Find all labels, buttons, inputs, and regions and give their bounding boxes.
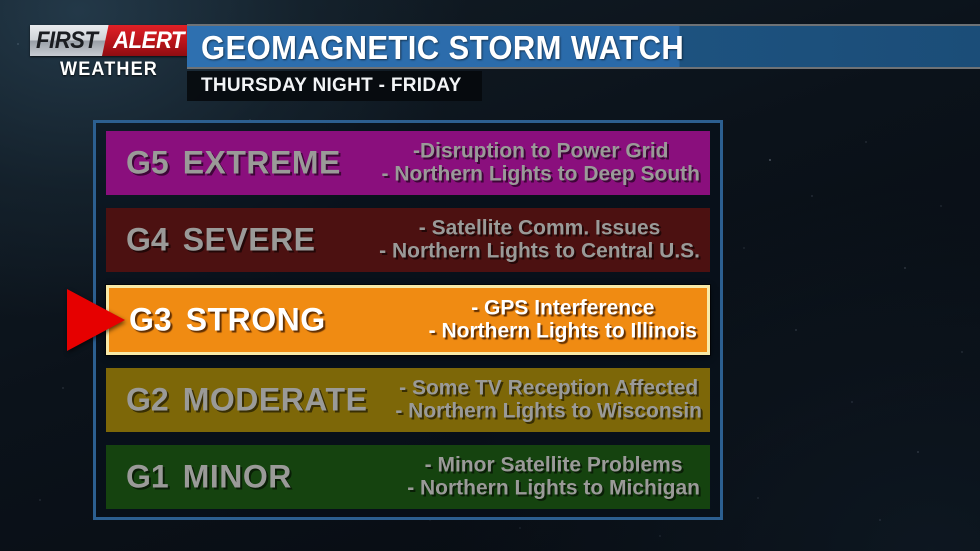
storm-row-g1-label: G1 MINOR [126, 459, 292, 496]
storm-row-g5-label: G5 EXTREME [126, 145, 341, 182]
storm-row-g1-level: G1 [126, 459, 169, 496]
page-title: GEOMAGNETIC STORM WATCH [201, 29, 684, 67]
storm-row-g2-desc-line2: - Northern Lights to Wisconsin [395, 400, 702, 423]
subtitle-timeframe: THURSDAY NIGHT - FRIDAY [201, 75, 462, 97]
storm-row-g3-desc-line2: - Northern Lights to Illinois [429, 320, 697, 343]
logo-alert-badge: ALERT [102, 25, 188, 56]
storm-row-g3-level: G3 [129, 302, 172, 339]
headline-bar: GEOMAGNETIC STORM WATCH [187, 24, 980, 69]
storm-row-g4-label: G4 SEVERE [126, 222, 316, 259]
weather-graphic-screen: FIRST ALERT WEATHER GEOMAGNETIC STORM WA… [0, 0, 980, 551]
logo-bar: FIRST ALERT [30, 25, 188, 56]
storm-row-g4: G4 SEVERE - Satellite Comm. Issues - Nor… [106, 208, 710, 272]
storm-row-g4-description: - Satellite Comm. Issues - Northern Ligh… [379, 217, 700, 262]
storm-row-g4-level: G4 [126, 222, 169, 259]
storm-row-g5-level: G5 [126, 145, 169, 182]
storm-row-g3-label: G3 STRONG [129, 302, 326, 339]
logo-weather-text: WEATHER [34, 59, 184, 81]
storm-row-g2-description: - Some TV Reception Affected - Northern … [395, 377, 702, 422]
storm-row-g3: G3 STRONG - GPS Interference - Northern … [106, 285, 710, 355]
storm-row-g3-description: - GPS Interference - Northern Lights to … [429, 297, 697, 342]
storm-row-g1-desc-line2: - Northern Lights to Michigan [407, 477, 700, 500]
storm-row-g1-desc-line1: - Minor Satellite Problems [407, 454, 700, 477]
storm-row-g2-desc-line1: - Some TV Reception Affected [395, 377, 702, 400]
storm-row-g2: G2 MODERATE - Some TV Reception Affected… [106, 368, 710, 432]
logo-first-text: FIRST [36, 27, 97, 55]
subtitle-bar: THURSDAY NIGHT - FRIDAY [187, 71, 482, 101]
storm-row-g1: G1 MINOR - Minor Satellite Problems - No… [106, 445, 710, 509]
storm-row-g2-level: G2 [126, 382, 169, 419]
storm-row-g5-name: EXTREME [183, 145, 341, 182]
storm-row-g3-name: STRONG [186, 302, 326, 339]
storm-row-g2-name: MODERATE [183, 382, 368, 419]
storm-row-g1-name: MINOR [183, 459, 292, 496]
storm-row-g3-desc-line1: - GPS Interference [429, 297, 697, 320]
storm-row-g4-desc-line1: - Satellite Comm. Issues [379, 217, 700, 240]
storm-scale-rows: G5 EXTREME -Disruption to Power Grid - N… [106, 131, 710, 509]
storm-row-g5-desc-line2: - Northern Lights to Deep South [382, 163, 700, 186]
storm-row-g4-name: SEVERE [183, 222, 316, 259]
storm-row-g1-description: - Minor Satellite Problems - Northern Li… [407, 454, 700, 499]
red-arrow-indicator-icon [67, 289, 125, 351]
storm-row-g2-label: G2 MODERATE [126, 382, 367, 419]
storm-row-g5-desc-line1: -Disruption to Power Grid [382, 140, 700, 163]
first-alert-weather-logo: FIRST ALERT WEATHER [30, 25, 190, 83]
storm-row-g5: G5 EXTREME -Disruption to Power Grid - N… [106, 131, 710, 195]
storm-row-g4-desc-line2: - Northern Lights to Central U.S. [379, 240, 700, 263]
geomagnetic-storm-scale-panel: G5 EXTREME -Disruption to Power Grid - N… [93, 120, 723, 520]
logo-alert-text: ALERT [113, 27, 184, 55]
storm-row-g5-description: -Disruption to Power Grid - Northern Lig… [382, 140, 700, 185]
